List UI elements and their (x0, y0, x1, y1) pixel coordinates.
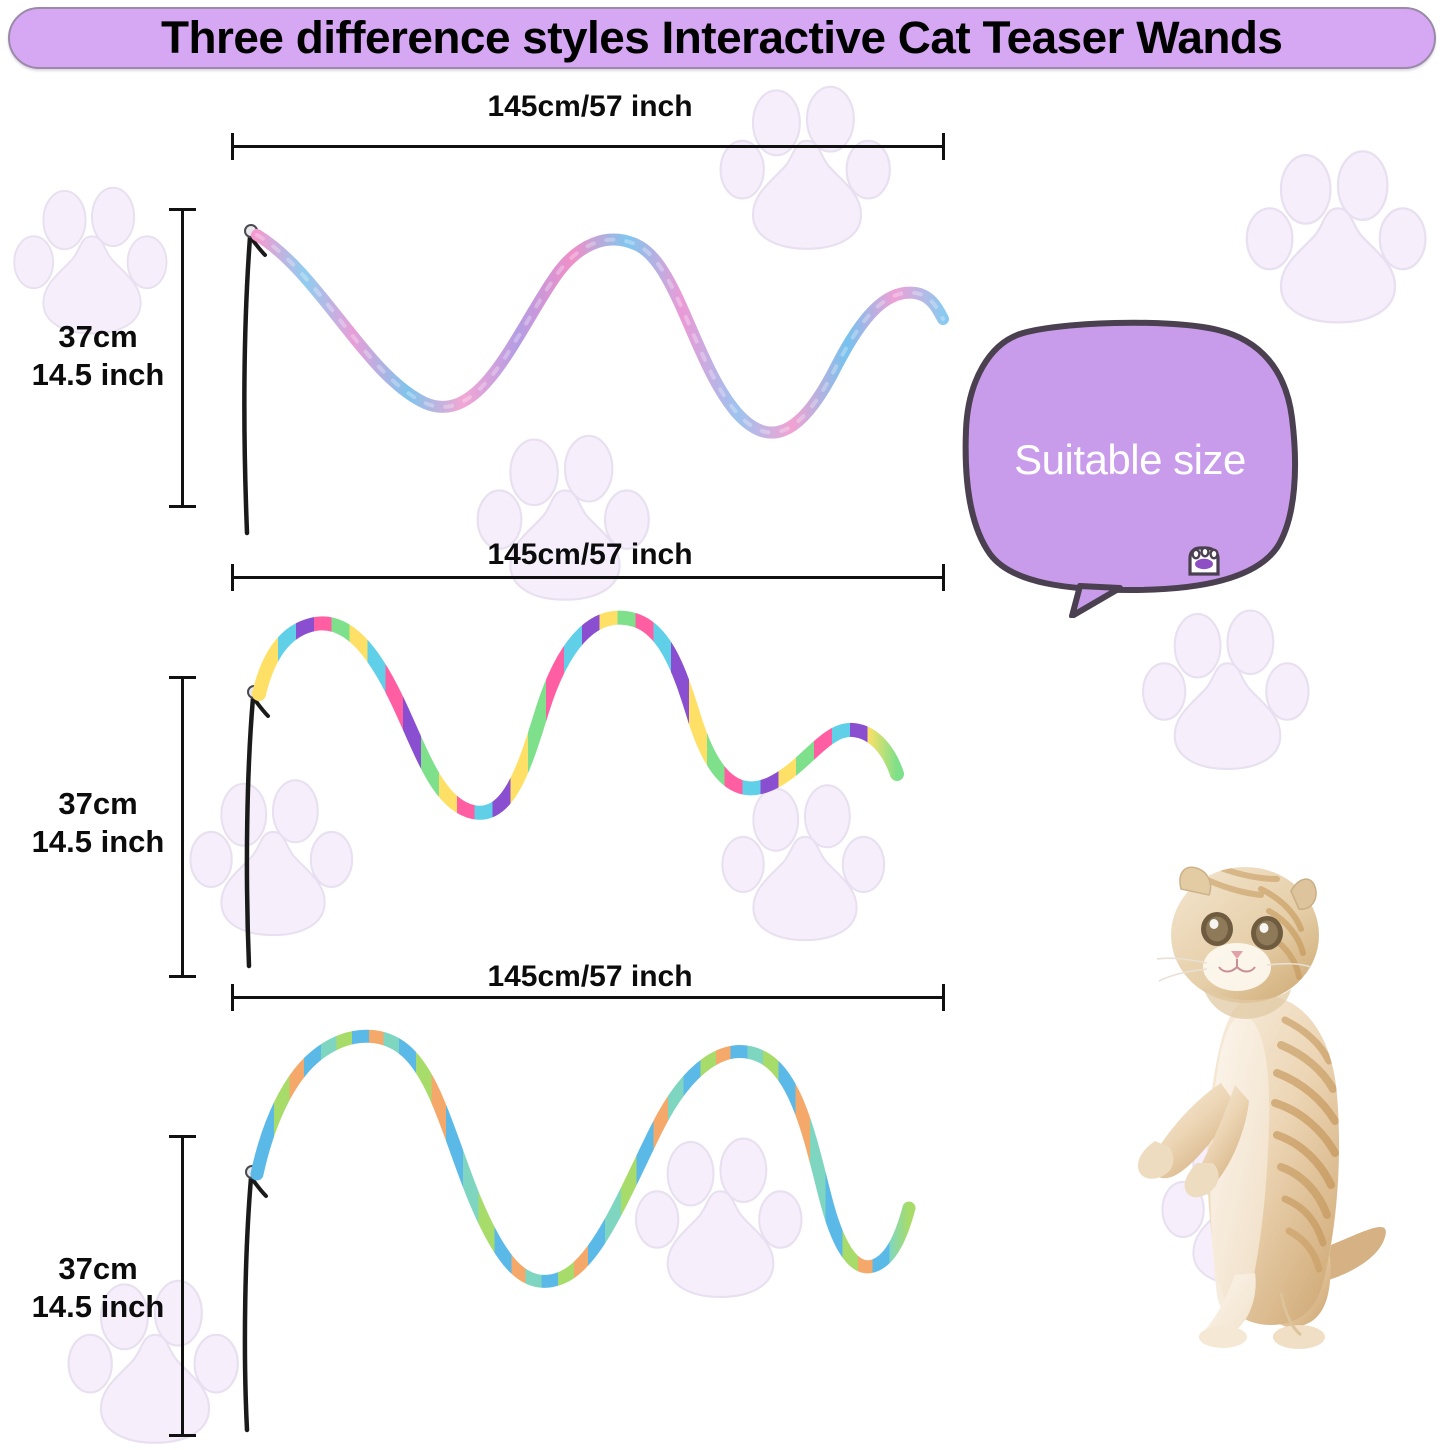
length-label-3: 145cm/57 inch (330, 960, 850, 994)
height-dimension-cap-top-3 (169, 1135, 196, 1138)
callout-text: Suitable size (960, 436, 1300, 484)
length-label-2: 145cm/57 inch (330, 538, 850, 572)
height-label-3-cm: 37cm (18, 1250, 178, 1288)
length-dimension-cap-right-2 (942, 564, 945, 591)
header-banner: Three difference styles Interactive Cat … (8, 7, 1436, 69)
height-dimension-cap-top-2 (169, 676, 196, 679)
tie-dye-wand (225, 215, 955, 545)
height-label-3-inch: 14.5 inch (18, 1288, 178, 1326)
height-label-2-inch: 14.5 inch (18, 823, 178, 861)
page-title: Three difference styles Interactive Cat … (161, 12, 1282, 64)
length-dimension-cap-left-1 (231, 133, 234, 160)
height-label-1-cm: 37cm (18, 318, 178, 356)
height-label-1: 37cm 14.5 inch (18, 318, 178, 394)
height-label-2: 37cm 14.5 inch (18, 785, 178, 861)
paw-print-watermark (1135, 600, 1320, 776)
length-dimension-line-3 (231, 996, 945, 999)
paw-print-watermark (6, 178, 178, 340)
height-dimension-cap-top-1 (169, 208, 196, 211)
paw-print-watermark (1238, 140, 1438, 330)
height-label-1-inch: 14.5 inch (18, 356, 178, 394)
height-dimension-cap-bottom-1 (169, 505, 196, 508)
length-dimension-line-1 (231, 145, 945, 148)
length-dimension-line-2 (231, 576, 945, 579)
height-dimension-line-1 (181, 208, 184, 508)
infographic-canvas: Three difference styles Interactive Cat … (0, 0, 1445, 1447)
blue-green-stripe-wand (225, 1000, 955, 1440)
cat-paw-icon (1190, 548, 1218, 574)
height-label-2-cm: 37cm (18, 785, 178, 823)
height-label-3: 37cm 14.5 inch (18, 1250, 178, 1326)
height-dimension-line-3 (181, 1135, 184, 1437)
length-dimension-cap-right-1 (942, 133, 945, 160)
height-dimension-cap-bottom-2 (169, 975, 196, 978)
suitable-size-callout: Suitable size (960, 318, 1300, 618)
length-dimension-cap-left-2 (231, 564, 234, 591)
rainbow-block-wand (225, 588, 955, 978)
length-label-1: 145cm/57 inch (330, 90, 850, 124)
height-dimension-cap-bottom-3 (169, 1434, 196, 1437)
kitten-photo (1085, 845, 1440, 1355)
height-dimension-line-2 (181, 676, 184, 978)
